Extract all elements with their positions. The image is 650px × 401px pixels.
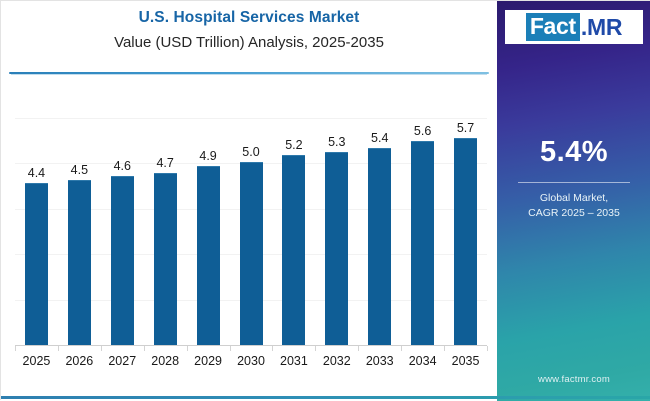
bar[interactable] [68,180,91,345]
bar-value-label: 5.2 [271,138,317,152]
logo-inner: Fact .MR [526,13,622,41]
bar-value-label: 4.4 [13,166,59,180]
x-axis-tick [58,346,59,351]
factmr-logo[interactable]: Fact .MR [505,10,643,44]
bar[interactable] [240,162,263,345]
bar-column: 4.6 [111,87,134,345]
x-axis-tick [444,346,445,351]
x-axis-label: 2035 [440,354,492,368]
cagr-caption-line-1: Global Market, [497,191,650,206]
title-block: U.S. Hospital Services Market Value (USD… [1,7,497,55]
bar-column: 4.7 [154,87,177,345]
logo-fact-text: Fact [526,13,580,41]
bar-chart-plot: 4.44.54.64.74.95.05.25.35.45.65.7 [15,87,487,345]
page-subtitle: Value (USD Trillion) Analysis, 2025-2035 [1,31,497,55]
title-divider-shadow [11,74,487,75]
cagr-caption-line-2: CAGR 2025 – 2035 [497,206,650,221]
brand-panel: Fact .MR 5.4% Global Market, CAGR 2025 –… [497,1,650,401]
bar[interactable] [368,148,391,345]
x-axis-tick [315,346,316,351]
bar-column: 4.4 [25,87,48,345]
bar[interactable] [411,141,434,345]
bar-column: 5.3 [325,87,348,345]
bar-column: 5.7 [454,87,477,345]
bar-value-label: 5.3 [314,135,360,149]
x-axis-line [15,345,487,346]
page-title: U.S. Hospital Services Market [1,7,497,29]
x-axis-tick [15,346,16,351]
bar-column: 5.2 [282,87,305,345]
bar-value-label: 5.0 [228,145,274,159]
bar-column: 5.4 [368,87,391,345]
x-axis-tick [144,346,145,351]
bar[interactable] [325,152,348,345]
x-axis-tick [358,346,359,351]
x-axis-tick [487,346,488,351]
chart-panel: U.S. Hospital Services Market Value (USD… [1,1,497,401]
x-axis-tick [187,346,188,351]
x-axis-tick [101,346,102,351]
bar[interactable] [282,155,305,345]
bar-column: 4.9 [197,87,220,345]
bar-column: 5.0 [240,87,263,345]
cagr-caption: Global Market, CAGR 2025 – 2035 [497,191,650,221]
bar-column: 5.6 [411,87,434,345]
x-axis-tick [401,346,402,351]
bar-value-label: 4.9 [185,149,231,163]
bar[interactable] [197,166,220,345]
bar-value-label: 4.7 [142,156,188,170]
infographic-root: U.S. Hospital Services Market Value (USD… [0,0,650,400]
logo-mr-text: .MR [580,14,622,41]
bar-value-label: 4.6 [99,159,145,173]
bar-value-label: 5.7 [443,121,489,135]
bar-value-label: 5.6 [400,124,446,138]
cagr-divider [518,182,630,183]
x-axis-tick [230,346,231,351]
cagr-value: 5.4% [497,136,650,169]
bar-value-label: 4.5 [56,163,102,177]
bar-value-label: 5.4 [357,131,403,145]
bar[interactable] [25,183,48,345]
bar-column: 4.5 [68,87,91,345]
bar[interactable] [111,176,134,345]
bar[interactable] [454,138,477,345]
bottom-accent-bar [1,396,650,399]
bar[interactable] [154,173,177,345]
website-url[interactable]: www.factmr.com [497,374,650,385]
x-axis-tick [272,346,273,351]
